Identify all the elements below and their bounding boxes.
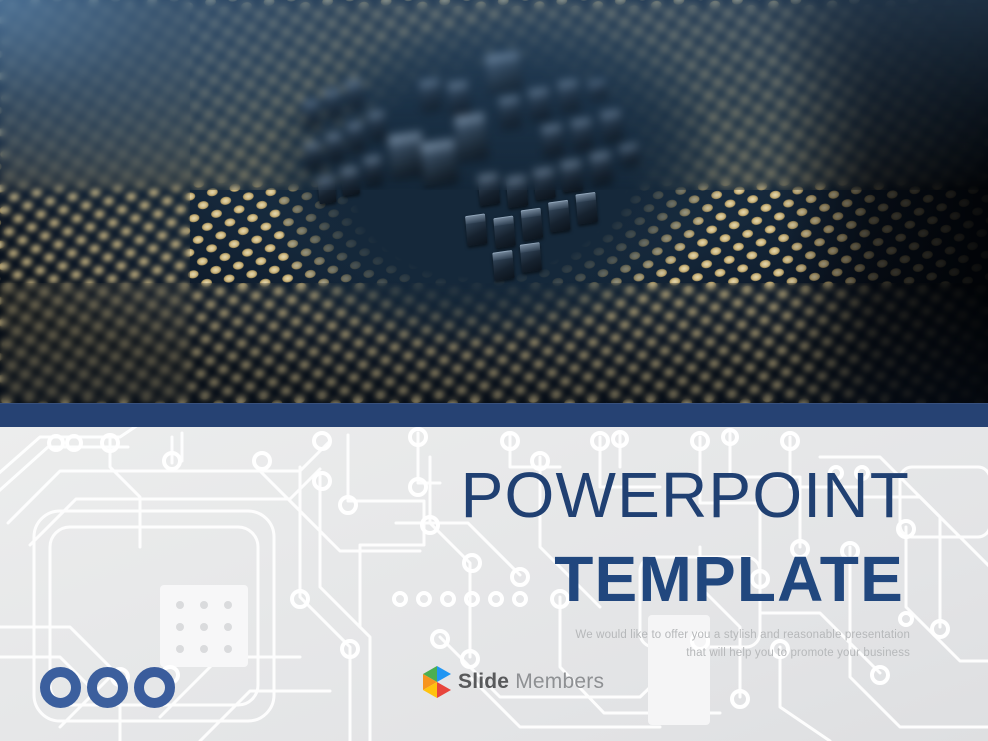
smd-chip <box>465 213 487 246</box>
slide-title-block: POWERPOINT TEMPLATE <box>461 463 910 611</box>
slidemembers-brand[interactable]: Slide Members <box>422 665 604 699</box>
accent-divider-bar <box>0 403 988 427</box>
ring-icon-2 <box>87 667 128 708</box>
circuit-chip-block <box>160 585 248 667</box>
smd-chip <box>492 250 514 281</box>
smd-chip <box>575 192 597 225</box>
title-line-primary: POWERPOINT <box>461 463 910 527</box>
slide-tagline: We would like to offer you a stylish and… <box>490 627 910 663</box>
smd-chip <box>520 242 542 273</box>
title-line-secondary: TEMPLATE <box>461 547 904 611</box>
lower-content-panel: POWERPOINT TEMPLATE We would like to off… <box>0 427 988 741</box>
smd-chip <box>521 208 543 241</box>
slidemembers-wordmark: Slide Members <box>458 670 604 694</box>
brand-word-bold: Slide <box>458 670 509 693</box>
brand-word-regular: Members <box>515 670 604 693</box>
ring-icon-1 <box>40 667 81 708</box>
ring-icon-3 <box>134 667 175 708</box>
tagline-line-1: We would like to offer you a stylish and… <box>490 627 910 645</box>
hero-photo-cpu <box>0 0 988 403</box>
tagline-line-2: that will help you to promote your busin… <box>490 645 910 663</box>
smd-chip <box>493 216 515 249</box>
smd-chip <box>548 200 570 233</box>
slidemembers-logo-icon <box>422 665 452 699</box>
photo-blur-bottom <box>0 283 988 403</box>
decorative-rings <box>40 667 175 708</box>
presentation-title-slide: POWERPOINT TEMPLATE We would like to off… <box>0 0 988 741</box>
